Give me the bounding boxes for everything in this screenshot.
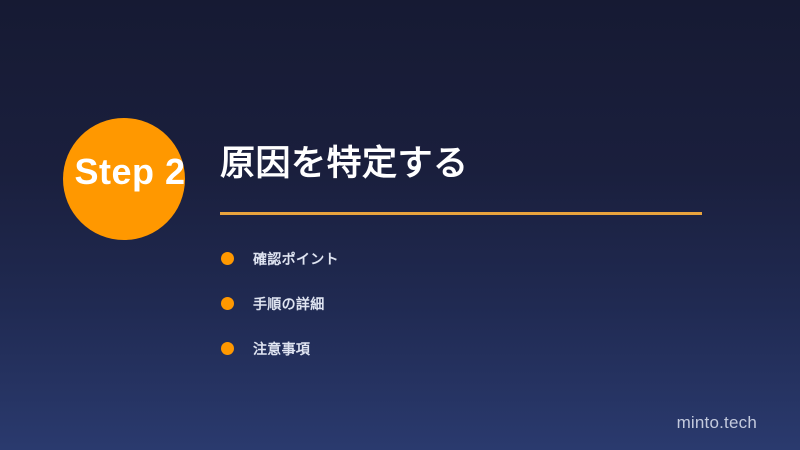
bullet-list: 確認ポイント 手順の詳細 注意事項: [221, 236, 701, 371]
list-item-label: 手順の詳細: [253, 295, 325, 313]
list-item: 注意事項: [221, 326, 701, 371]
list-item-label: 確認ポイント: [253, 250, 339, 268]
page-title: 原因を特定する: [220, 142, 720, 186]
bullet-dot-icon: [221, 252, 234, 265]
title-divider: [220, 212, 702, 215]
title-block: 原因を特定する: [220, 142, 720, 186]
list-item-label: 注意事項: [253, 340, 310, 358]
list-item: 確認ポイント: [221, 236, 701, 281]
footer-brand-label: minto.tech: [677, 413, 757, 433]
list-item: 手順の詳細: [221, 281, 701, 326]
presentation-slide: Step 2 原因を特定する 確認ポイント 手順の詳細 注意事項 minto.t…: [0, 0, 800, 450]
bullet-dot-icon: [221, 342, 234, 355]
step-badge-label: Step 2: [40, 152, 220, 192]
bullet-dot-icon: [221, 297, 234, 310]
